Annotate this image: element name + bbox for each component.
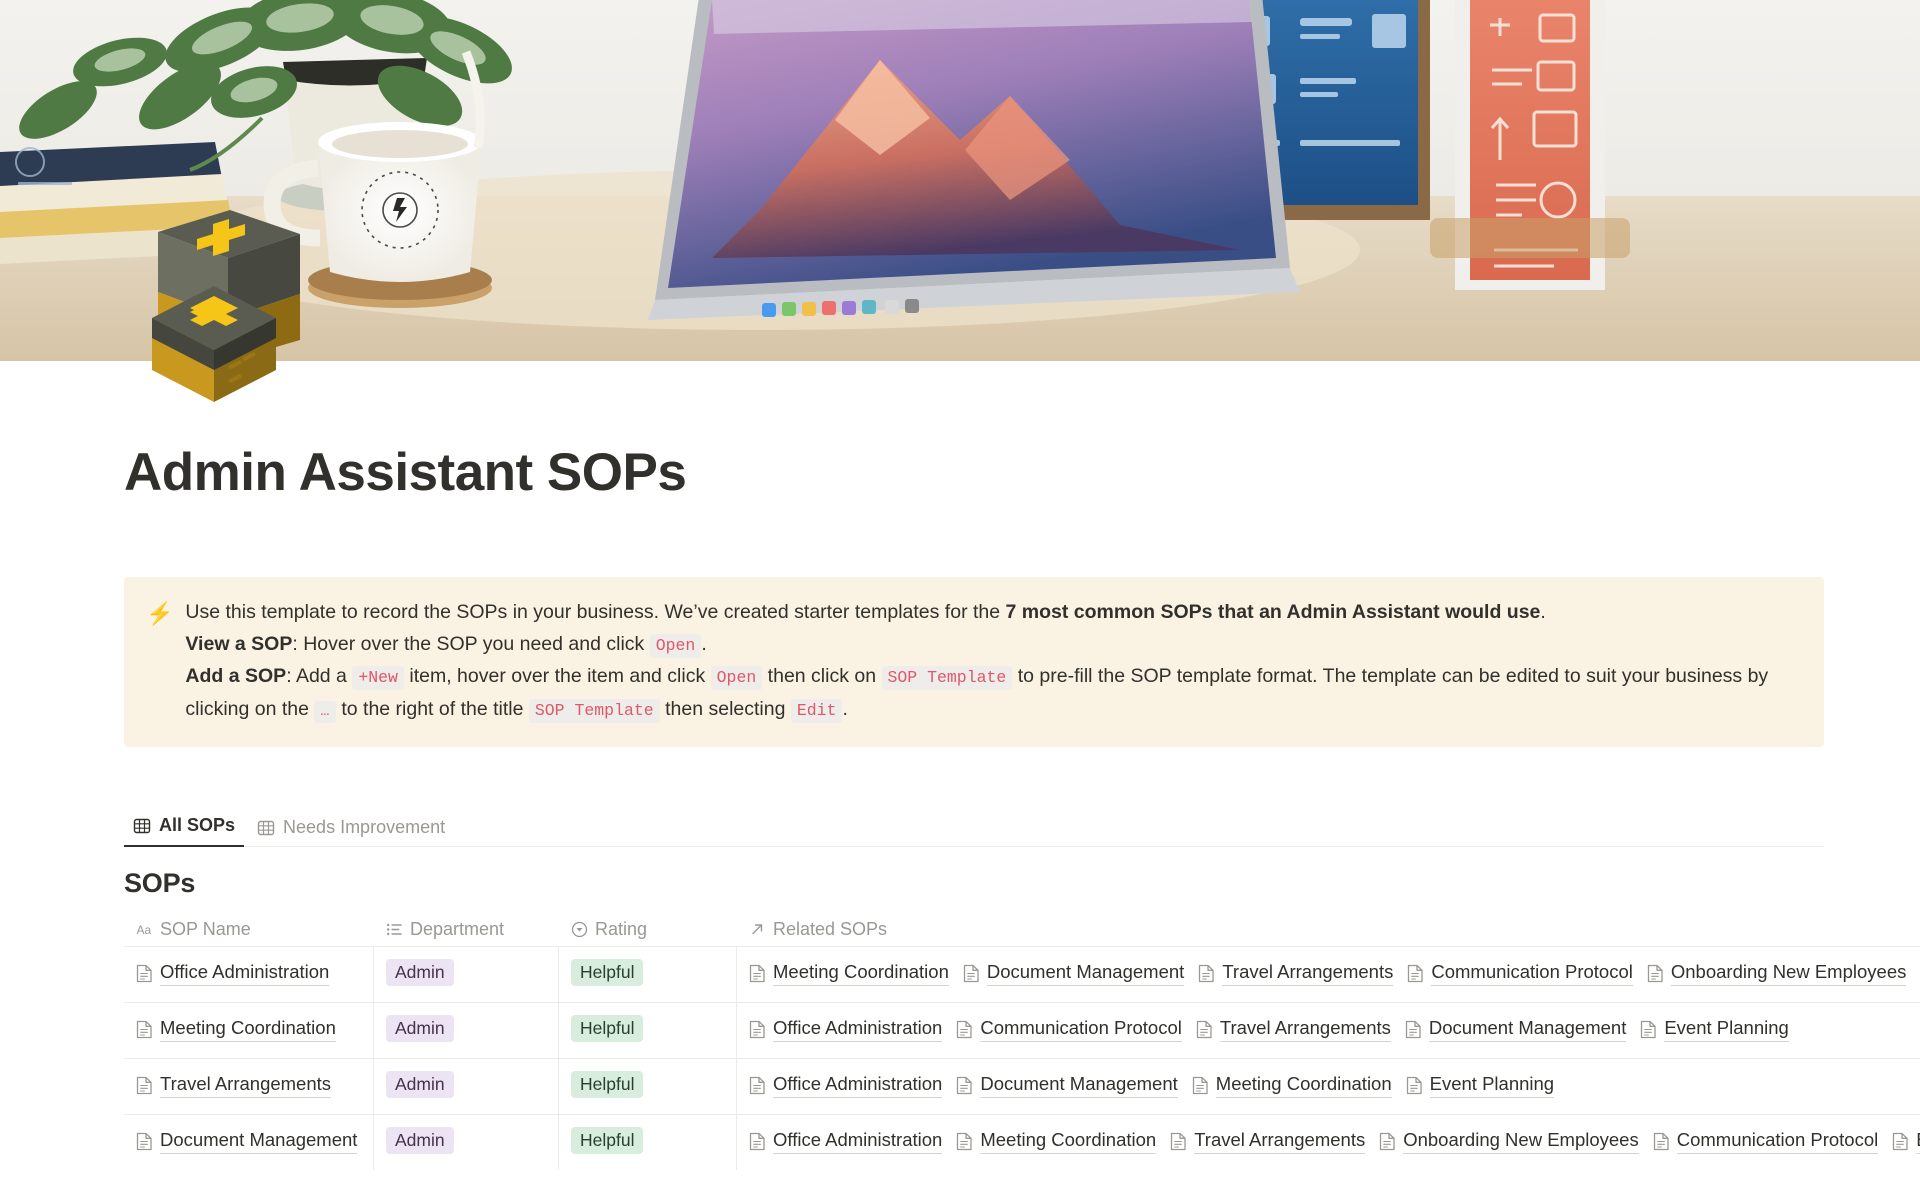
related-sop-label: Document Management [980, 1071, 1177, 1098]
sop-page-link[interactable]: Meeting Coordination [136, 1015, 336, 1042]
cell-rating[interactable]: Helpful [559, 1003, 737, 1058]
page-document-icon [1170, 1132, 1187, 1151]
cell-rating[interactable]: Helpful [559, 1059, 737, 1114]
column-label: Related SOPs [773, 919, 887, 940]
page-document-icon [956, 1076, 973, 1095]
department-chip: Admin [386, 1127, 454, 1154]
page-document-icon [136, 964, 153, 983]
callout-line-1: Use this template to record the SOPs in … [185, 597, 1802, 629]
cell-rating[interactable]: Helpful [559, 1115, 737, 1170]
multi-select-icon [386, 921, 403, 938]
cell-related-sops[interactable]: Office Administration Meeting Coordinati… [737, 1115, 1920, 1170]
cell-sop-name[interactable]: Travel Arrangements [124, 1059, 374, 1114]
code-open-1: Open [650, 634, 702, 658]
code-open-2: Open [711, 666, 763, 690]
related-sop-label: Event Planning [1664, 1015, 1788, 1042]
related-sop-link[interactable]: Onboarding New Employees [1379, 1127, 1639, 1154]
department-chip: Admin [386, 1071, 454, 1098]
relation-arrow-icon [749, 921, 766, 938]
related-sop-label: Office Administration [773, 1127, 942, 1154]
related-sops-list: Office Administration Document Managemen… [749, 1071, 1554, 1098]
related-sop-link[interactable]: Office Administration [749, 1127, 942, 1154]
column-label: SOP Name [160, 919, 251, 940]
related-sop-label: Office Administration [773, 1015, 942, 1042]
related-sop-label: Onboarding New Employees [1671, 959, 1907, 986]
page-document-icon [136, 1020, 153, 1039]
related-sop-label: Meeting Coordination [1216, 1071, 1392, 1098]
related-sop-link[interactable]: Communication Protocol [956, 1015, 1182, 1042]
table-row[interactable]: Meeting Coordination Admin Helpful Offic… [124, 1002, 1920, 1058]
page-document-icon [1198, 964, 1215, 983]
code-sop-template-1: SOP Template [882, 666, 1013, 690]
cell-department[interactable]: Admin [374, 1059, 559, 1114]
page-document-icon [1407, 964, 1424, 983]
table-row[interactable]: Office Administration Admin Helpful Meet… [124, 946, 1920, 1002]
svg-text:Aa: Aa [137, 923, 152, 937]
page-document-icon [749, 1020, 766, 1039]
page-document-icon [1379, 1132, 1396, 1151]
related-sop-link[interactable]: Travel Arrangements [1170, 1127, 1365, 1154]
code-edit: Edit [791, 699, 843, 723]
related-sop-link[interactable]: Event Planning [1406, 1071, 1554, 1098]
related-sop-link[interactable]: Travel Arrangements [1198, 959, 1393, 986]
related-sop-link[interactable]: Meeting Coordination [749, 959, 949, 986]
callout-line-3: Add a SOP: Add a +New item, hover over t… [185, 661, 1802, 727]
rating-chip: Helpful [571, 959, 643, 986]
sop-name-label: Meeting Coordination [160, 1015, 336, 1042]
sop-page-link[interactable]: Office Administration [136, 959, 329, 986]
rating-chip: Helpful [571, 1071, 643, 1098]
table-row[interactable]: Document Management Admin Helpful Office… [124, 1114, 1920, 1170]
related-sop-label: Travel Arrangements [1194, 1127, 1365, 1154]
view-tabs: All SOPs Needs Improvement [124, 809, 1824, 847]
page-document-icon [749, 1132, 766, 1151]
rating-chip: Helpful [571, 1127, 643, 1154]
cover-photo-illustration [0, 0, 1920, 361]
related-sop-link[interactable]: Event Planning [1892, 1127, 1920, 1154]
cell-department[interactable]: Admin [374, 947, 559, 1002]
department-chip: Admin [386, 959, 454, 986]
cell-related-sops[interactable]: Meeting Coordination Document Management… [737, 947, 1920, 1002]
related-sop-label: Travel Arrangements [1220, 1015, 1391, 1042]
related-sop-label: Onboarding New Employees [1403, 1127, 1639, 1154]
related-sop-link[interactable]: Meeting Coordination [1192, 1071, 1392, 1098]
related-sop-link[interactable]: Meeting Coordination [956, 1127, 1156, 1154]
table-grid-icon [133, 817, 151, 835]
cell-department[interactable]: Admin [374, 1003, 559, 1058]
sop-page-link[interactable]: Document Management [136, 1127, 357, 1154]
table-header-row: Aa SOP Name Department [124, 913, 1920, 946]
page-document-icon [956, 1020, 973, 1039]
sop-page-link[interactable]: Travel Arrangements [136, 1071, 331, 1098]
related-sop-link[interactable]: Document Management [1405, 1015, 1626, 1042]
page-document-icon [963, 964, 980, 983]
column-header-related-sops[interactable]: Related SOPs [737, 913, 1920, 946]
page-document-icon [1406, 1076, 1423, 1095]
related-sop-link[interactable]: Communication Protocol [1653, 1127, 1879, 1154]
sop-name-label: Travel Arrangements [160, 1071, 331, 1098]
sops-table: Aa SOP Name Department [124, 913, 1920, 1170]
tab-all-sops[interactable]: All SOPs [124, 815, 244, 847]
cell-sop-name[interactable]: Office Administration [124, 947, 374, 1002]
cell-related-sops[interactable]: Office Administration Document Managemen… [737, 1059, 1920, 1114]
cell-rating[interactable]: Helpful [559, 947, 737, 1002]
related-sops-list: Office Administration Communication Prot… [749, 1015, 1789, 1042]
column-header-sop-name[interactable]: Aa SOP Name [124, 913, 374, 946]
related-sop-link[interactable]: Office Administration [749, 1071, 942, 1098]
page-title[interactable]: Admin Assistant SOPs [124, 361, 1920, 502]
page-document-icon [1653, 1132, 1670, 1151]
page-document-icon [749, 964, 766, 983]
callout-box[interactable]: ⚡ Use this template to record the SOPs i… [124, 577, 1824, 747]
cover-image[interactable] [0, 0, 1920, 361]
related-sops-list: Office Administration Meeting Coordinati… [749, 1127, 1920, 1154]
related-sop-label: Office Administration [773, 1071, 942, 1098]
related-sop-link[interactable]: Office Administration [749, 1015, 942, 1042]
page-document-icon [1647, 964, 1664, 983]
column-header-rating[interactable]: Rating [559, 913, 737, 946]
column-label: Rating [595, 919, 647, 940]
related-sop-label: Event Planning [1916, 1127, 1920, 1154]
callout-text: Use this template to record the SOPs in … [185, 597, 1802, 727]
cell-sop-name[interactable]: Document Management [124, 1115, 374, 1170]
lightning-bolt-icon: ⚡ [146, 598, 173, 629]
cell-sop-name[interactable]: Meeting Coordination [124, 1003, 374, 1058]
page-document-icon [1192, 1076, 1209, 1095]
related-sop-label: Meeting Coordination [773, 959, 949, 986]
related-sop-link[interactable]: Travel Arrangements [1196, 1015, 1391, 1042]
sop-name-label: Document Management [160, 1127, 357, 1154]
related-sop-link[interactable]: Document Management [963, 959, 1184, 986]
cell-department[interactable]: Admin [374, 1115, 559, 1170]
related-sop-link[interactable]: Event Planning [1640, 1015, 1788, 1042]
text-aa-icon: Aa [136, 921, 153, 938]
column-label: Department [410, 919, 504, 940]
related-sop-label: Document Management [987, 959, 1184, 986]
related-sop-label: Document Management [1429, 1015, 1626, 1042]
code-sop-template-2: SOP Template [529, 699, 660, 723]
isometric-cube-plus-icon [144, 274, 284, 414]
code-ellipsis: … [314, 701, 336, 723]
tab-label: Needs Improvement [283, 817, 445, 838]
page-icon[interactable] [144, 274, 284, 414]
sop-name-label: Office Administration [160, 959, 329, 986]
page-document-icon [1892, 1132, 1909, 1151]
related-sop-link[interactable]: Communication Protocol [1407, 959, 1633, 986]
tab-needs-improvement[interactable]: Needs Improvement [248, 817, 454, 847]
cell-related-sops[interactable]: Office Administration Communication Prot… [737, 1003, 1920, 1058]
department-chip: Admin [386, 1015, 454, 1042]
related-sop-label: Communication Protocol [980, 1015, 1182, 1042]
page-document-icon [1196, 1020, 1213, 1039]
rating-chip: Helpful [571, 1015, 643, 1042]
related-sop-label: Travel Arrangements [1222, 959, 1393, 986]
related-sop-link[interactable]: Document Management [956, 1071, 1177, 1098]
page-document-icon [1640, 1020, 1657, 1039]
table-grid-icon [257, 819, 275, 837]
tab-label: All SOPs [159, 815, 235, 836]
page-document-icon [136, 1132, 153, 1151]
database-title[interactable]: SOPs [124, 868, 1920, 899]
select-circle-icon [571, 921, 588, 938]
related-sop-label: Event Planning [1430, 1071, 1554, 1098]
related-sop-label: Communication Protocol [1677, 1127, 1879, 1154]
page-document-icon [956, 1132, 973, 1151]
related-sops-list: Meeting Coordination Document Management… [749, 959, 1906, 986]
page-document-icon [136, 1076, 153, 1095]
related-sop-label: Meeting Coordination [980, 1127, 1156, 1154]
related-sop-link[interactable]: Onboarding New Employees [1647, 959, 1907, 986]
column-header-department[interactable]: Department [374, 913, 559, 946]
table-row[interactable]: Travel Arrangements Admin Helpful Office… [124, 1058, 1920, 1114]
page-document-icon [1405, 1020, 1422, 1039]
related-sop-label: Communication Protocol [1431, 959, 1633, 986]
code-new: +New [352, 666, 404, 690]
callout-line-2: View a SOP: Hover over the SOP you need … [185, 629, 1802, 662]
page-document-icon [749, 1076, 766, 1095]
page-body: Admin Assistant SOPs ⚡ Use this template… [0, 361, 1920, 1170]
